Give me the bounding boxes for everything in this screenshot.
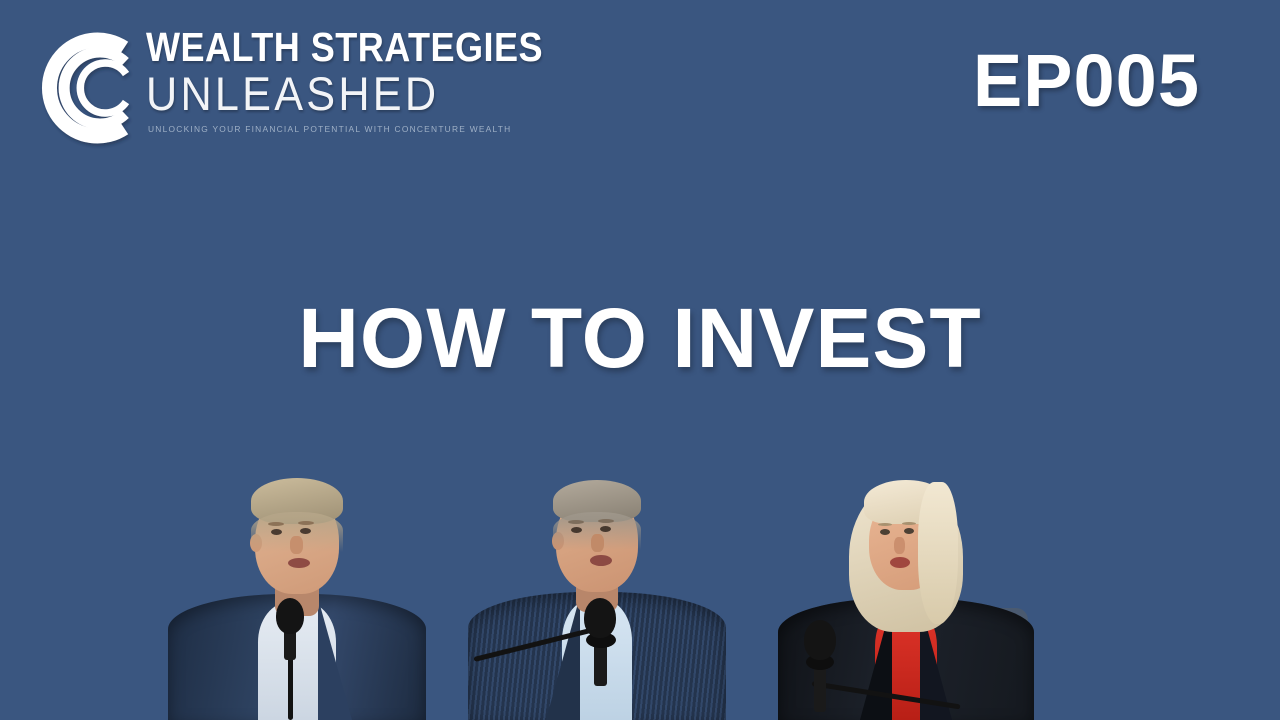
speaker-right-brow-right	[902, 522, 916, 525]
speaker-left-mouth	[288, 558, 310, 568]
speaker-center-mic-head	[584, 598, 616, 638]
speaker-left-eye-left	[271, 529, 282, 535]
brand-line-2: UNLEASHED	[146, 70, 561, 117]
speaker-center-brow-right	[598, 519, 614, 523]
episode-title: HOW TO INVEST	[0, 296, 1280, 380]
speaker-left	[168, 470, 426, 720]
episode-number: EP005	[973, 44, 1200, 118]
speaker-right-eye-right	[904, 528, 914, 534]
speaker-center-mouth	[590, 555, 612, 566]
speaker-center	[468, 464, 726, 720]
speaker-center-eye-right	[600, 526, 611, 532]
speaker-right-hair-strand	[918, 482, 958, 624]
speaker-right-eye-left	[880, 529, 890, 535]
speaker-right-mouth	[890, 557, 910, 568]
speaker-right	[778, 464, 1034, 720]
brand-line-1: WEALTH STRATEGIES	[146, 28, 543, 68]
brand-text-block: WEALTH STRATEGIES UNLEASHED UNLOCKING YO…	[146, 26, 597, 134]
concentric-c-logo-icon	[28, 26, 134, 150]
speaker-right-brow-left	[878, 523, 892, 526]
speaker-center-eye-left	[571, 527, 582, 533]
speaker-center-brow-left	[568, 520, 584, 524]
brand-tagline: UNLOCKING YOUR FINANCIAL POTENTIAL WITH …	[148, 124, 597, 134]
speaker-row	[0, 460, 1280, 720]
speaker-left-mic-head	[276, 598, 304, 634]
speaker-left-brow-left	[268, 522, 284, 526]
speaker-left-nose	[290, 536, 303, 554]
speaker-right-mic-head	[804, 620, 836, 660]
speaker-left-brow-right	[298, 521, 314, 525]
podcast-thumbnail: WEALTH STRATEGIES UNLEASHED UNLOCKING YO…	[0, 0, 1280, 720]
speaker-center-nose	[591, 534, 604, 552]
speaker-right-nose	[894, 537, 905, 554]
brand-lockup: WEALTH STRATEGIES UNLEASHED UNLOCKING YO…	[28, 26, 597, 150]
speaker-left-eye-right	[300, 528, 311, 534]
